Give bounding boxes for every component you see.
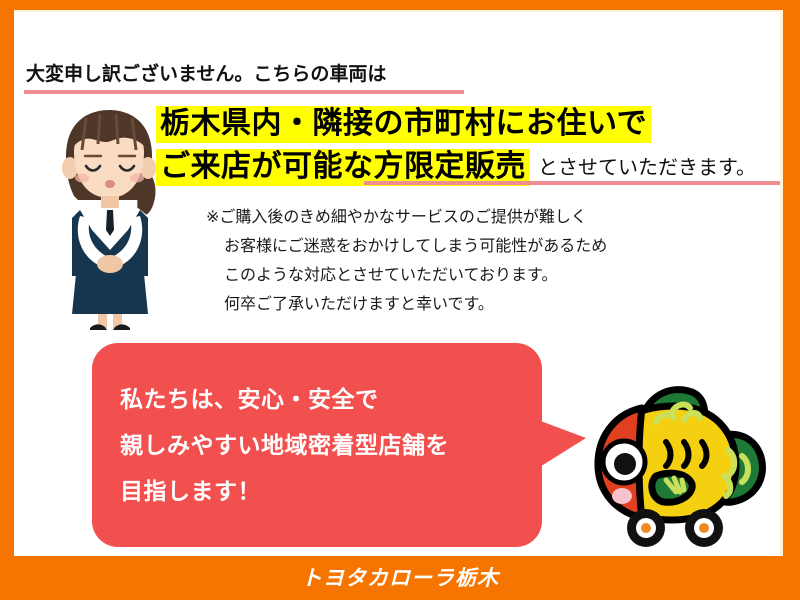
notes-block: ※ご購入後のきめ細やかなサービスのご提供が難しく お客様にご迷惑をおかけしてしま… <box>206 202 607 318</box>
speech-bubble-text: 私たちは、安心・安全で 親しみやすい地域密着型店舗を 目指します！ <box>120 377 540 515</box>
headline-highlight-1: 栃木県内・隣接の市町村にお住いで <box>156 106 651 143</box>
right-seam <box>780 12 783 556</box>
dealer-logo-text: トヨタカローラ栃木 <box>0 562 800 592</box>
header-divider <box>24 90 464 94</box>
bubble-line: 親しみやすい地域密着型店舗を <box>120 423 540 469</box>
promo-page: 大変申し訳ございません。こちらの車両は <box>0 0 800 600</box>
headline-tail-text: とさせていただきます。 <box>530 157 756 177</box>
headline-block: 栃木県内・隣接の市町村にお住いで ご来店が可能な方限定販売とさせていただきます。 <box>156 106 780 192</box>
bubble-line: 目指します！ <box>120 469 540 515</box>
headline-row-1: 栃木県内・隣接の市町村にお住いで <box>156 106 780 143</box>
page-title: 大変申し訳ございません。こちらの車両は <box>26 59 386 86</box>
note-line: 何卒ご了承いただけますと幸いです。 <box>206 289 607 318</box>
note-line: お客様にご迷惑をおかけしてしまう可能性があるため <box>206 231 607 260</box>
fish-mascot-icon <box>580 380 780 550</box>
note-line: ※ご購入後のきめ細やかなサービスのご提供が難しく <box>206 202 607 231</box>
headline-divider <box>364 181 780 185</box>
speech-bubble-tail <box>538 420 586 468</box>
white-content-card: 大変申し訳ございません。こちらの車両は <box>14 12 780 556</box>
bubble-line: 私たちは、安心・安全で <box>120 377 540 423</box>
note-line: このような対応とさせていただいております。 <box>206 260 607 289</box>
bowing-woman-icon <box>44 104 174 332</box>
